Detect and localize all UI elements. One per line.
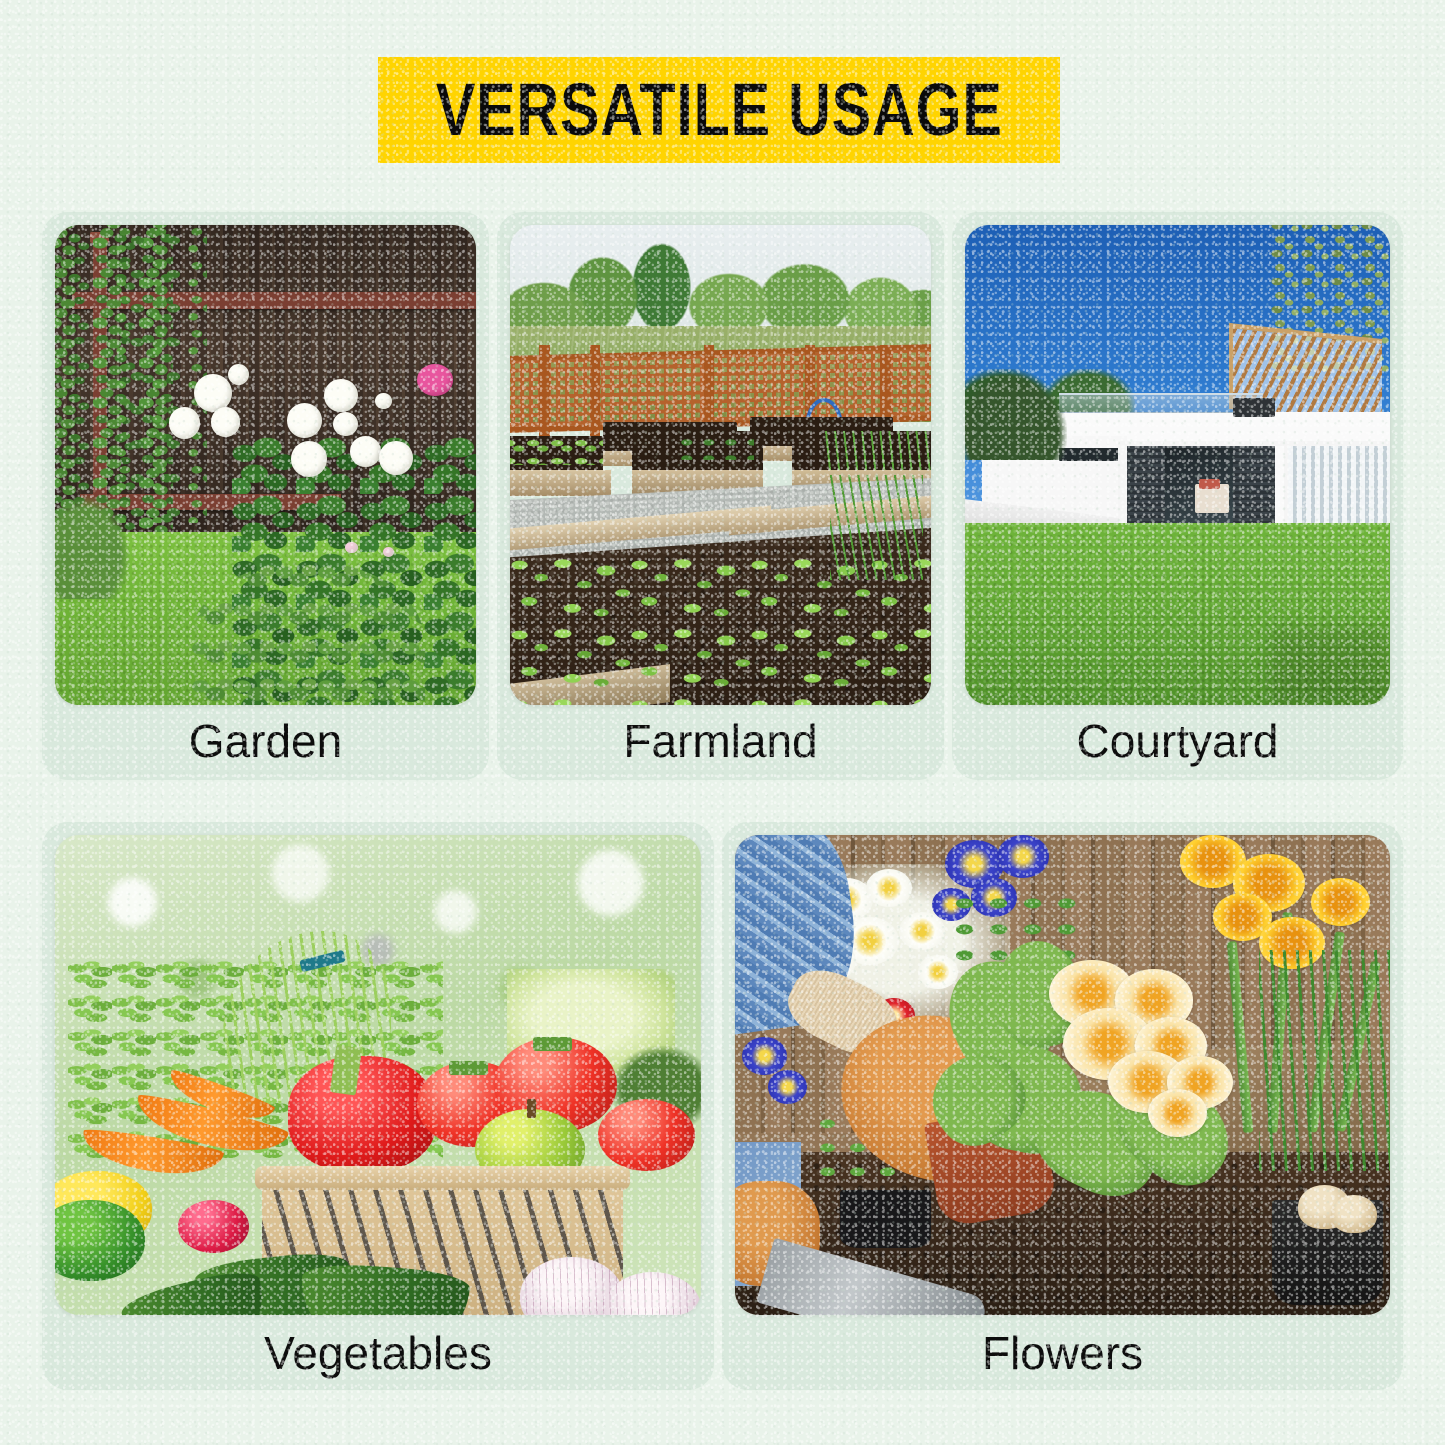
photo-garden <box>55 225 476 705</box>
infographic-page: VERSATILE USAGE <box>0 0 1445 1445</box>
caption-garden: Garden <box>42 718 489 764</box>
caption-farmland: Farmland <box>497 718 944 764</box>
caption-vegetables: Vegetables <box>42 1330 714 1376</box>
photo-vegetables <box>55 835 701 1315</box>
caption-courtyard: Courtyard <box>952 718 1403 764</box>
photo-farmland <box>510 225 931 705</box>
photo-courtyard <box>965 225 1390 705</box>
title-banner: VERSATILE USAGE <box>378 57 1060 163</box>
photo-flowers <box>735 835 1390 1315</box>
caption-flowers: Flowers <box>722 1330 1403 1376</box>
title-text: VERSATILE USAGE <box>436 73 1003 147</box>
